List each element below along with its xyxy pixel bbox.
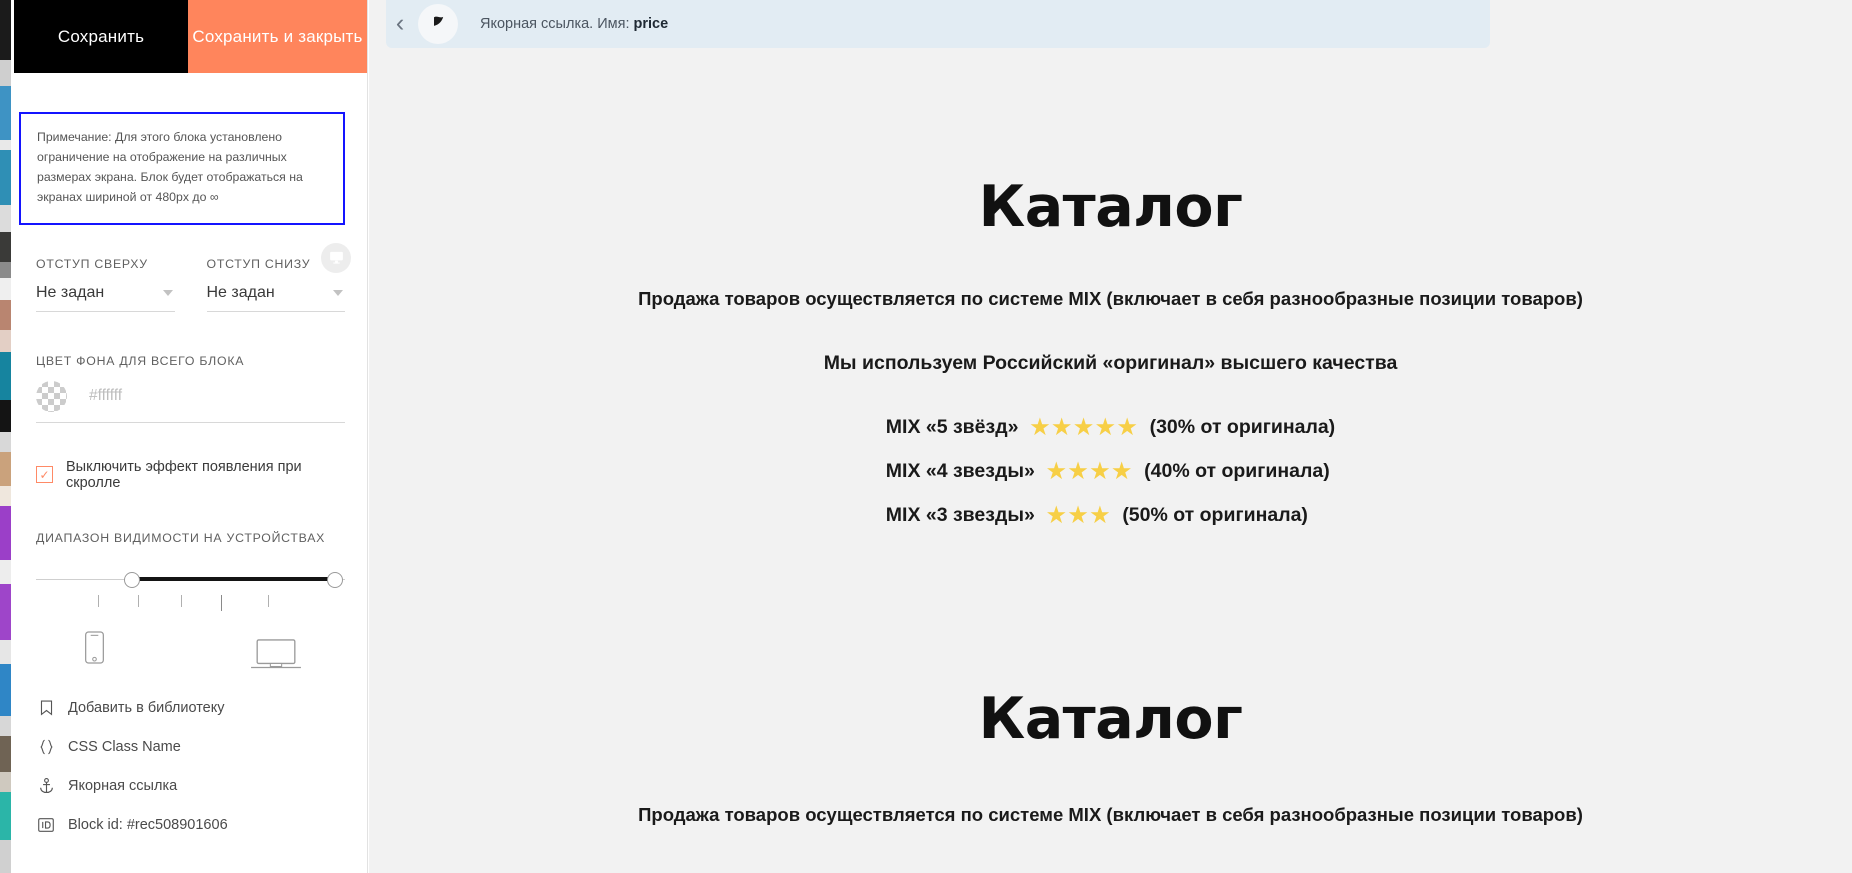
rating-name: MIX «4 звезды» — [886, 460, 1035, 483]
device-preview-button[interactable] — [321, 243, 351, 273]
css-class-name-item[interactable]: CSS Class Name — [36, 739, 356, 755]
slider-tick — [138, 595, 139, 607]
padding-top-field: ОТСТУП СВЕРХУ Не задан — [36, 257, 175, 312]
phone-icon — [85, 631, 104, 669]
section-1-subtitle: Продажа товаров осуществляется по систем… — [369, 288, 1852, 310]
panel-action-buttons: Сохранить Сохранить и закрыть — [14, 0, 367, 73]
scroll-effect-checkbox[interactable]: ✓ — [36, 466, 53, 483]
scroll-effect-checkbox-row[interactable]: ✓ Выключить эффект появления при скролле — [36, 459, 345, 491]
page-preview-area: ‹ Якорная ссылка. Имя: price Каталог Про… — [369, 0, 1852, 873]
block-id-item[interactable]: Block id: #rec508901606 — [36, 817, 356, 833]
braces-icon — [36, 739, 56, 755]
anchor-link-item[interactable]: Якорная ссылка — [36, 778, 356, 794]
rating-row: MIX «4 звезды» ★★★★ (40% от оригинала) — [886, 459, 1335, 484]
section-2-subtitle: Продажа товаров осуществляется по систем… — [369, 804, 1852, 826]
monitor-icon — [328, 249, 345, 266]
block-id-prefix: Block id: — [68, 817, 127, 833]
anchor-bar-text: Якорная ссылка. Имя: price — [480, 16, 668, 32]
rating-note: (30% от оригинала) — [1150, 416, 1336, 439]
star-icons: ★★★★ — [1047, 459, 1134, 484]
slider-ticks — [36, 595, 345, 613]
rating-list: MIX «5 звёзд» ★★★★★ (30% от оригинала) M… — [886, 415, 1335, 547]
visibility-note-box: Примечание: Для этого блока установлено … — [19, 112, 345, 225]
chevron-down-icon — [333, 290, 343, 296]
color-hex-input[interactable]: #ffffff — [89, 387, 122, 405]
scroll-effect-label: Выключить эффект появления при скролле — [66, 459, 345, 491]
section-1-title: Каталог — [369, 174, 1852, 240]
id-icon — [36, 818, 56, 832]
chevron-down-icon — [163, 290, 173, 296]
background-color-label: ЦВЕТ ФОНА ДЛЯ ВСЕГО БЛОКА — [36, 354, 345, 368]
block-id-label: Block id: #rec508901606 — [68, 817, 228, 833]
padding-top-select[interactable]: Не задан — [36, 284, 175, 312]
page-preview-strip[interactable] — [0, 0, 11, 873]
device-visibility-label: ДИАПАЗОН ВИДИМОСТИ НА УСТРОЙСТВАХ — [36, 531, 345, 545]
anchor-icon — [36, 778, 56, 794]
padding-top-value: Не задан — [36, 284, 104, 302]
padding-bottom-field: ОТСТУП СНИЗУ Не задан — [207, 257, 346, 312]
device-icons — [36, 631, 345, 687]
padding-bottom-select[interactable]: Не задан — [207, 284, 346, 312]
preview-page: Каталог Продажа товаров осуществляется п… — [369, 48, 1852, 826]
star-icons: ★★★ — [1047, 503, 1112, 528]
section-1-quality-text: Мы используем Российский «оригинал» высш… — [369, 352, 1852, 375]
slider-handle-max[interactable] — [327, 572, 343, 588]
color-swatch[interactable] — [36, 381, 67, 412]
slider-tick — [221, 595, 222, 611]
padding-top-label: ОТСТУП СВЕРХУ — [36, 257, 175, 271]
check-icon: ✓ — [39, 469, 49, 481]
app-root: Сохранить Сохранить и закрыть Примечание… — [0, 0, 1852, 873]
rating-row: MIX «3 звезды» ★★★ (50% от оригинала) — [886, 503, 1335, 528]
anchor-link-notification-bar: ‹ Якорная ссылка. Имя: price — [386, 0, 1490, 48]
save-and-close-button[interactable]: Сохранить и закрыть — [188, 0, 367, 73]
anchor-link-label: Якорная ссылка — [68, 778, 177, 794]
slider-fill — [132, 577, 336, 581]
block-id-value: #rec508901606 — [127, 817, 228, 833]
rating-name: MIX «5 звёзд» — [886, 416, 1019, 439]
slider-tick — [98, 595, 99, 607]
section-2-title: Каталог — [369, 686, 1852, 752]
save-button[interactable]: Сохранить — [14, 0, 188, 73]
collapse-chevron-icon[interactable]: ‹ — [386, 11, 414, 38]
visibility-note-text: Примечание: Для этого блока установлено … — [37, 128, 329, 208]
add-to-library-item[interactable]: Добавить в библиотеку — [36, 700, 356, 716]
rating-name: MIX «3 звезды» — [886, 504, 1035, 527]
flag-icon — [431, 15, 446, 34]
panel-body: ОТСТУП СВЕРХУ Не задан ОТСТУП СНИЗУ Не з… — [14, 257, 367, 687]
anchor-bar-label: Якорная ссылка. Имя: — [480, 16, 634, 32]
block-settings-panel: Сохранить Сохранить и закрыть Примечание… — [14, 0, 368, 873]
slider-handle-min[interactable] — [124, 572, 140, 588]
background-color-row[interactable]: #ffffff — [36, 381, 345, 423]
rating-row: MIX «5 звёзд» ★★★★★ (30% от оригинала) — [886, 415, 1335, 440]
add-to-library-label: Добавить в библиотеку — [68, 700, 225, 716]
slider-tick — [268, 595, 269, 607]
laptop-icon — [250, 639, 302, 676]
padding-bottom-value: Не задан — [207, 284, 275, 302]
anchor-bar-name: price — [634, 16, 669, 32]
slider-tick — [181, 595, 182, 607]
anchor-flag-button[interactable] — [418, 4, 458, 44]
padding-fields-row: ОТСТУП СВЕРХУ Не задан ОТСТУП СНИЗУ Не з… — [36, 257, 345, 312]
rating-note: (40% от оригинала) — [1144, 460, 1330, 483]
rating-note: (50% от оригинала) — [1122, 504, 1308, 527]
block-meta-list: Добавить в библиотеку CSS Class Name — [36, 700, 356, 856]
css-class-name-label: CSS Class Name — [68, 739, 181, 755]
device-visibility-slider[interactable] — [36, 567, 345, 593]
star-icons: ★★★★★ — [1030, 415, 1139, 440]
bookmark-icon — [36, 700, 56, 716]
